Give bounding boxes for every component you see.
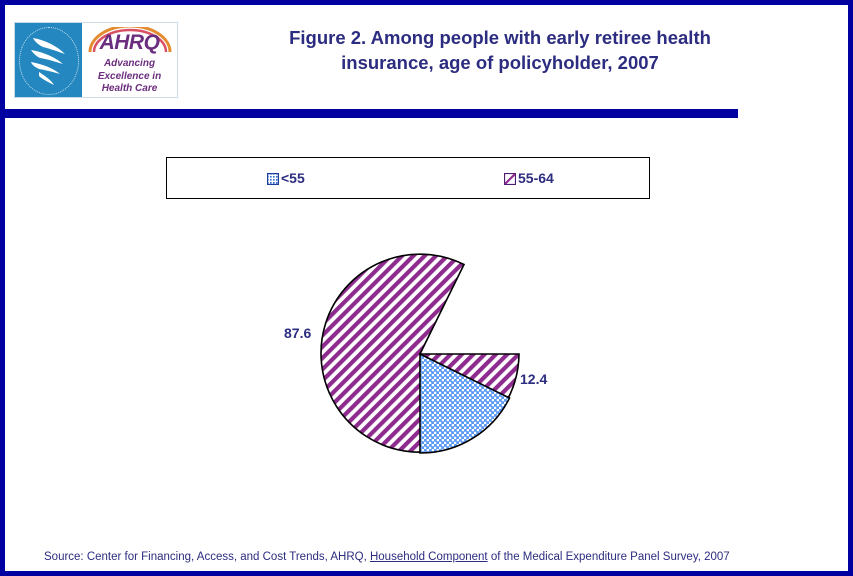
header-divider xyxy=(5,109,738,118)
ahrq-tagline-line-3: Health Care xyxy=(82,83,177,95)
chart-legend: <55 55-64 xyxy=(166,157,650,199)
pie-slice-under-55[interactable] xyxy=(420,354,510,453)
ahrq-wordmark: AHRQ Advancing Excellence in Health Care xyxy=(82,23,177,97)
legend-item-55-64[interactable]: 55-64 xyxy=(504,169,554,187)
source-note-suffix: of the Medical Expenditure Panel Survey,… xyxy=(488,551,730,563)
legend-swatch-55-64 xyxy=(504,172,516,184)
page-title-line-1: Figure 2. Among people with early retire… xyxy=(190,25,810,50)
legend-item-under-55[interactable]: <55 xyxy=(267,169,305,187)
slide-canvas: AHRQ Advancing Excellence in Health Care… xyxy=(0,0,853,576)
legend-label-55-64: 55-64 xyxy=(518,170,554,186)
ahrq-tagline-line-2: Excellence in xyxy=(82,71,177,83)
pie-datalabel-under-55: 12.4 xyxy=(520,371,547,387)
legend-swatch-under-55 xyxy=(267,172,279,184)
hhs-seal-icon xyxy=(15,23,82,97)
ahrq-logo: AHRQ Advancing Excellence in Health Care xyxy=(14,22,178,98)
page-title: Figure 2. Among people with early retire… xyxy=(190,25,810,75)
ahrq-tagline-line-1: Advancing xyxy=(82,58,177,70)
page-title-line-2: insurance, age of policyholder, 2007 xyxy=(190,50,810,75)
pie-slice-55-64[interactable] xyxy=(321,254,519,452)
hhs-eagle-icon xyxy=(27,32,71,90)
pie-datalabel-55-64: 87.6 xyxy=(284,325,311,341)
ahrq-acronym-block: AHRQ xyxy=(82,26,177,57)
source-note-link[interactable]: Household Component xyxy=(370,551,488,563)
ahrq-acronym-text: AHRQ xyxy=(82,32,177,54)
legend-label-under-55: <55 xyxy=(281,170,305,186)
source-note-prefix: Source: Center for Financing, Access, an… xyxy=(44,551,370,563)
source-note: Source: Center for Financing, Access, an… xyxy=(44,551,730,563)
